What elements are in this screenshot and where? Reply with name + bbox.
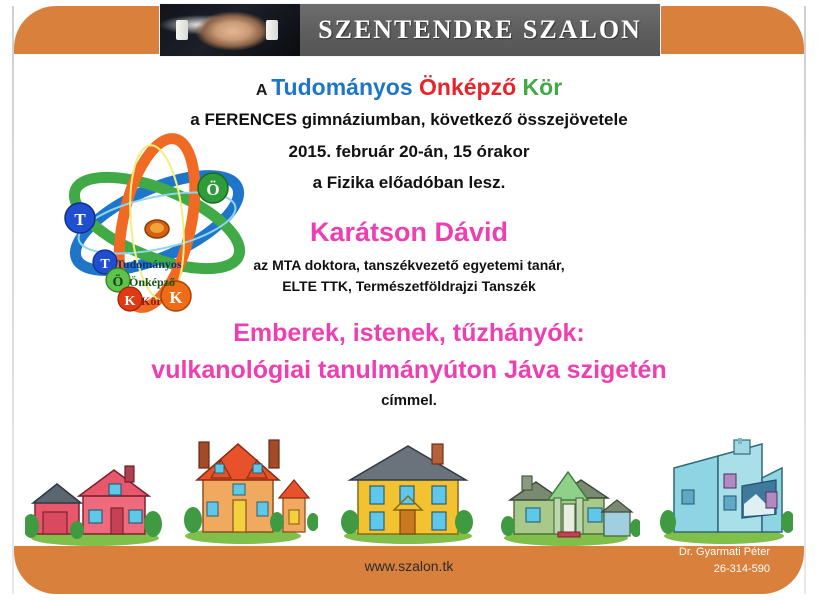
lecture-title-suffix: címmel. (0, 391, 818, 411)
venue-line: a FERENCES gimnáziumban, következő össze… (0, 109, 818, 131)
lecture-title-line-1: Emberek, istenek, tűzhányók: (0, 317, 818, 350)
footer-contact-name: Dr. Gyarmati Péter (679, 544, 770, 561)
house-blue-icon (658, 438, 793, 546)
headline-word-onkepzo: Önképző (419, 74, 516, 100)
house-orange-icon (183, 436, 318, 546)
headline-word-kor: Kör (523, 74, 563, 100)
date-line: 2015. február 20-án, 15 órakor (0, 141, 818, 163)
handshake-photo (160, 4, 300, 56)
house-green-icon (500, 446, 640, 546)
houses-illustration (16, 436, 802, 546)
poster-canvas: SZENTENDRE SZALON T Ö K T Tudományos (0, 0, 818, 600)
shirt-cuff-left (176, 20, 188, 41)
announcement-body: A Tudományos Önképző Kör a FERENCES gimn… (0, 62, 818, 456)
header-banner: SZENTENDRE SZALON (160, 4, 660, 56)
room-line: a Fizika előadóban lesz. (0, 172, 818, 194)
speaker-credentials-2: ELTE TTK, Természetföldrajzi Tanszék (0, 277, 818, 295)
headline: A Tudományos Önképző Kör (0, 72, 818, 102)
speaker-name: Karátson Dávid (0, 215, 818, 251)
speaker-credentials-1: az MTA doktora, tanszékvezető egyetemi t… (0, 256, 818, 274)
banner-title: SZENTENDRE SZALON (300, 4, 660, 56)
headline-article: A (256, 82, 271, 99)
house-yellow-icon (336, 436, 481, 546)
footer-contact-phone: 26-314-590 (679, 561, 770, 578)
headline-word-tudomanyos: Tudományos (271, 74, 412, 100)
footer-contact: Dr. Gyarmati Péter 26-314-590 (679, 544, 770, 578)
shirt-cuff-right (266, 20, 278, 41)
house-red-icon (25, 450, 165, 546)
lecture-title-line-2: vulkanológiai tanulmányúton Jáva szigeté… (0, 354, 818, 387)
